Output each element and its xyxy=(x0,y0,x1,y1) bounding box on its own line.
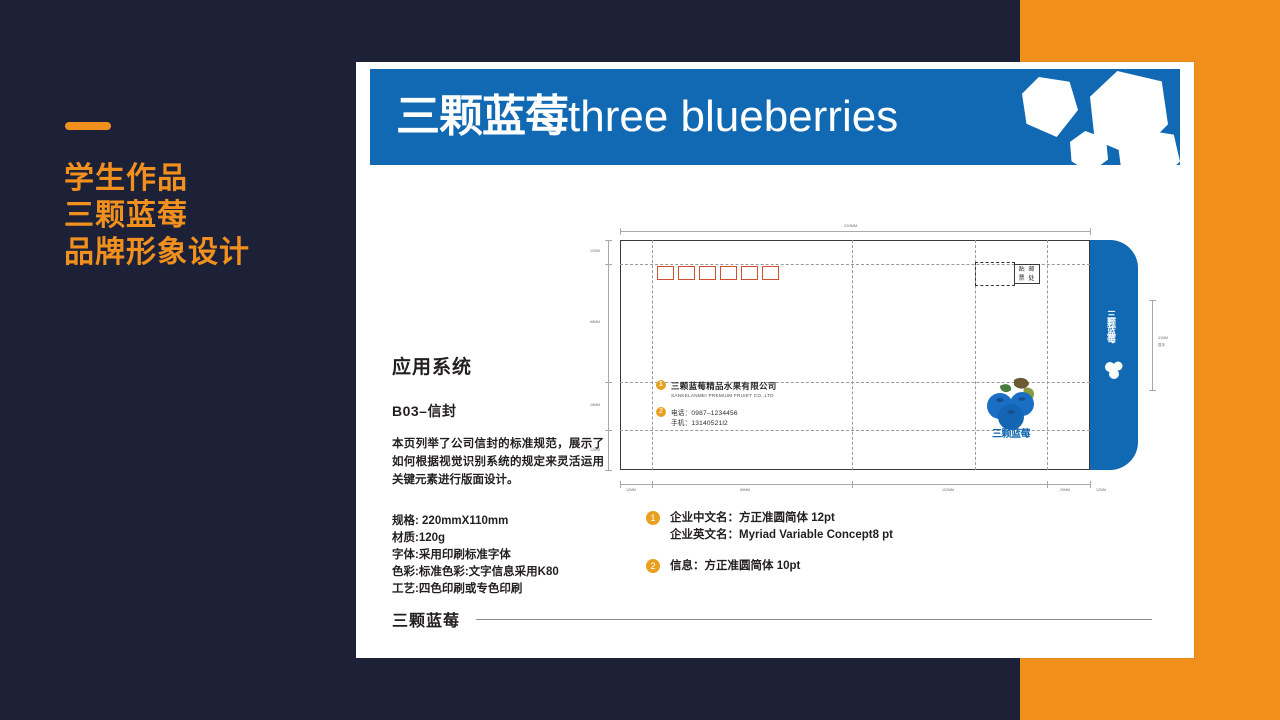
postal-code-box xyxy=(762,266,779,280)
dim-label-left-1: 12MM xyxy=(590,249,600,253)
sidebar-title-line-2: 三颗蓝莓 xyxy=(64,197,354,234)
dim-tick-left-3 xyxy=(605,430,612,431)
flap-brand-text: 三颗蓝莓 xyxy=(1106,310,1116,342)
company-name-cn-row: 1三颗蓝莓精品水果有限公司 xyxy=(656,380,886,392)
company-name-en: SANKELANMEI PREMIUM FRUIET CO.,LTD xyxy=(671,393,886,398)
envelope-flap xyxy=(1090,240,1138,470)
description-body: 本页列举了公司信封的标准规范，展示了如何根据视觉识别系统的规定来灵活运用关键元素… xyxy=(392,435,604,489)
legend-row: 2 信息：方正准圆简体 10pt xyxy=(646,558,1066,575)
spec-item-size: 规格: 220mmX110mm xyxy=(392,513,604,530)
legend-line-en-name: 企业英文名：Myriad Variable Concept8 pt xyxy=(670,527,893,544)
legend-lines-2: 信息：方正准圆简体 10pt xyxy=(670,558,800,575)
flap-blueberry-icon xyxy=(1104,358,1124,380)
postal-code-box xyxy=(657,266,674,280)
dim-tick-top-left xyxy=(620,228,621,235)
dim-label-right-2: 居中 xyxy=(1158,343,1165,348)
dim-label-bottom-2: 65MM xyxy=(740,488,750,492)
banner-title-en: three blueberries xyxy=(568,92,898,141)
description-block: 应用系统 B03–信封 本页列举了公司信封的标准规范，展示了如何根据视觉识别系统… xyxy=(392,352,604,598)
dim-tick-top-right xyxy=(1090,228,1091,235)
dim-tick-bottom-0 xyxy=(620,481,621,488)
dim-label-bottom-5: 12MM xyxy=(1096,488,1106,492)
postal-code-box xyxy=(741,266,758,280)
spec-list: 规格: 220mmX110mm 材质:120g 字体:采用印刷标准字体 色彩:标… xyxy=(392,513,604,598)
legend-line-cn-name: 企业中文名：方正准圆简体 12pt xyxy=(670,510,893,527)
envelope-company-info: 1三颗蓝莓精品水果有限公司 SANKELANMEI PREMIUM FRUIET… xyxy=(656,380,886,427)
guide-vertical-1 xyxy=(652,240,653,470)
accent-dash xyxy=(65,122,111,130)
page-subtitle: B03–信封 xyxy=(392,401,604,421)
postal-code-box xyxy=(678,266,695,280)
dim-label-left-2: 68MM xyxy=(590,320,600,324)
page-title: 应用系统 xyxy=(392,352,604,379)
legend-line-info: 信息：方正准圆简体 10pt xyxy=(670,558,800,575)
dim-label-left-3: 18MM xyxy=(590,403,600,407)
dim-tick-bottom-1 xyxy=(652,481,653,488)
dim-tick-right-top xyxy=(1149,300,1156,301)
dim-line-right xyxy=(1152,300,1153,390)
dim-tick-bottom-3 xyxy=(1047,481,1048,488)
dim-tick-bottom-4 xyxy=(1090,481,1091,488)
dim-line-left xyxy=(608,240,609,470)
legend-lines-1: 企业中文名：方正准圆简体 12pt 企业英文名：Myriad Variable … xyxy=(670,510,893,544)
dim-tick-right-bottom xyxy=(1149,390,1156,391)
dim-label-bottom-3: 102MM xyxy=(942,488,954,492)
postal-code-box xyxy=(720,266,737,280)
callout-badge-1: 1 xyxy=(656,380,666,390)
company-name-cn: 三颗蓝莓精品水果有限公司 xyxy=(671,381,777,391)
guide-vertical-2 xyxy=(852,240,853,470)
dim-tick-left-4 xyxy=(605,470,612,471)
spec-item-process: 工艺:四色印刷或专色印刷 xyxy=(392,581,604,598)
legend-badge-2: 2 xyxy=(646,559,660,573)
footer-divider xyxy=(476,619,1152,620)
stamp-label-line-2: 票 处 xyxy=(1015,275,1039,284)
dim-tick-left-0 xyxy=(605,240,612,241)
spec-item-typeface: 字体:采用印刷标准字体 xyxy=(392,547,604,564)
company-mobile: 手机：13140521l2 xyxy=(671,417,886,427)
stamp-guide-box xyxy=(975,262,1015,286)
postal-code-boxes xyxy=(657,266,779,280)
dim-label-right-1: 31MM xyxy=(1158,336,1168,340)
company-tel: 电话：0987–1234456 xyxy=(671,410,738,417)
dim-label-top-width: 220MM xyxy=(844,223,857,228)
page-footer: 三颗蓝莓 xyxy=(392,607,1152,631)
postal-code-box xyxy=(699,266,716,280)
dim-tick-bottom-2 xyxy=(852,481,853,488)
sidebar-title-panel: 学生作品 三颗蓝莓 品牌形象设计 xyxy=(0,0,360,720)
dim-tick-left-1 xyxy=(605,264,612,265)
guide-vertical-4 xyxy=(1047,240,1048,470)
company-tel-row: 2电话：0987–1234456 xyxy=(656,407,886,417)
dim-line-top xyxy=(620,231,1090,232)
stamp-area-box: 贴 邮 票 处 xyxy=(1014,264,1040,284)
sidebar-title-line-3: 品牌形象设计 xyxy=(64,234,354,271)
banner-title: 三颗蓝莓three blueberries xyxy=(396,89,898,145)
sidebar-title: 学生作品 三颗蓝莓 品牌形象设计 xyxy=(64,160,354,271)
brand-banner: 三颗蓝莓three blueberries xyxy=(370,69,1180,165)
dim-tick-left-2 xyxy=(605,382,612,383)
sidebar-title-line-1: 学生作品 xyxy=(64,160,354,197)
legend-row: 1 企业中文名：方正准圆简体 12pt 企业英文名：Myriad Variabl… xyxy=(646,510,1066,544)
polygon-decor-icon-1 xyxy=(1022,77,1078,137)
dim-label-bottom-4: 29MM xyxy=(1060,488,1070,492)
banner-title-cn: 三颗蓝莓 xyxy=(396,92,568,141)
dim-label-left-4: 12MM xyxy=(590,448,600,452)
legend-block: 1 企业中文名：方正准圆简体 12pt 企业英文名：Myriad Variabl… xyxy=(646,510,1066,589)
stamp-label-line-1: 贴 邮 xyxy=(1015,266,1039,275)
footer-logo-text: 三颗蓝莓 xyxy=(392,607,460,631)
spec-item-color: 色彩:标准色彩:文字信息采用K80 xyxy=(392,564,604,581)
slide-page: 三颗蓝莓three blueberries 应用系统 B03–信封 本页列举了公… xyxy=(356,62,1194,658)
legend-badge-1: 1 xyxy=(646,511,660,525)
envelope-logo-text: 三颗蓝莓 xyxy=(980,425,1042,440)
spec-item-material: 材质:120g xyxy=(392,530,604,547)
dim-label-bottom-1: 12MM xyxy=(626,488,636,492)
callout-badge-2: 2 xyxy=(656,407,666,417)
dim-line-bottom xyxy=(620,484,1090,485)
